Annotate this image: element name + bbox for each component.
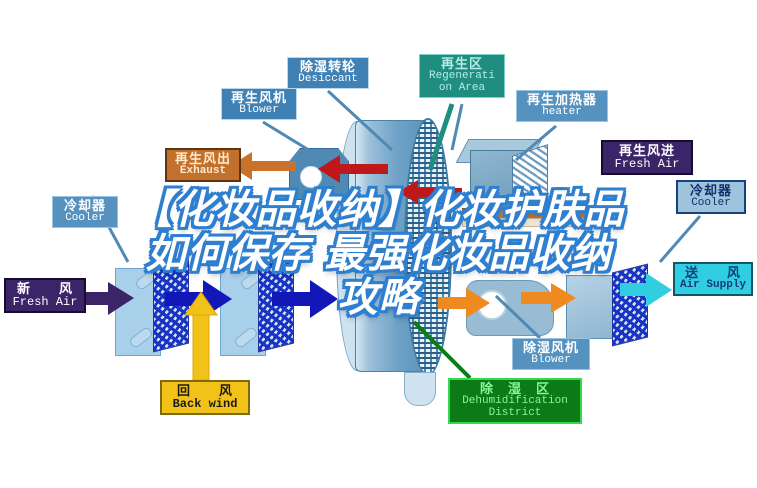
diagram-canvas: 除湿转轮 Desiccant 再生风机 Blower 再生区 Regenerat… [0, 0, 757, 488]
label-cn: 除湿风机 [517, 341, 585, 355]
label-en-line2: District [454, 408, 576, 420]
label-cn: 除 湿 区 [454, 382, 576, 396]
process-air-arrow-2-icon [272, 280, 338, 318]
label-en: Exhaust [171, 166, 235, 178]
label-cn: 再生区 [424, 57, 500, 71]
label-cn: 再生加热器 [521, 93, 603, 107]
label-regeneration-blower[interactable]: 再生风机 Blower [221, 88, 297, 120]
label-en: Desiccant [292, 74, 364, 86]
label-exhaust[interactable]: 再生风出 Exhaust [165, 148, 241, 182]
fresh-air-arrow-icon [86, 282, 134, 315]
dehum-arrow-1-icon [438, 288, 490, 318]
label-cooler-left[interactable]: 冷却器 Cooler [52, 196, 118, 228]
label-en: Fresh Air [10, 296, 80, 309]
supply-arrow-icon [620, 273, 672, 307]
label-back-wind[interactable]: 回 风 Back wind [160, 380, 250, 415]
label-en: Back wind [166, 398, 244, 411]
label-cn: 新 风 [10, 282, 80, 296]
label-dehumidification-district[interactable]: 除 湿 区 Dehumidification District [448, 378, 582, 424]
label-regeneration-fresh-air-inlet[interactable]: 再生风进 Fresh Air [601, 140, 693, 175]
label-cn: 再生风进 [607, 144, 687, 158]
label-cn: 再生风机 [226, 91, 292, 105]
label-cooler-right[interactable]: 冷却器 Cooler [676, 180, 746, 214]
regen-inlet-red-arrow-icon [318, 155, 462, 204]
leader-line-teal [430, 104, 452, 170]
label-en: Air Supply [679, 280, 747, 292]
label-en: Blower [226, 105, 292, 117]
label-en: Cooler [57, 213, 113, 225]
label-regeneration-heater[interactable]: 再生加热器 heater [516, 90, 608, 122]
label-air-supply[interactable]: 送 风 Air Supply [673, 262, 753, 296]
label-cn: 除湿转轮 [292, 60, 364, 74]
label-fresh-air-inlet[interactable]: 新 风 Fresh Air [4, 278, 86, 313]
airflow-arrows [0, 0, 757, 488]
leader-line-green [414, 322, 470, 378]
label-cn: 送 风 [679, 266, 747, 280]
label-cn: 回 风 [166, 384, 244, 398]
label-cn: 冷却器 [682, 184, 740, 198]
dehum-arrow-2-icon [521, 283, 576, 313]
label-cn: 再生风出 [171, 152, 235, 166]
label-desiccant-rotor[interactable]: 除湿转轮 Desiccant [287, 57, 369, 89]
label-en: heater [521, 107, 603, 119]
label-en: Cooler [682, 198, 740, 210]
label-en-line2: on Area [424, 83, 500, 95]
label-regeneration-area[interactable]: 再生区 Regenerati on Area [419, 54, 505, 98]
label-dehumidification-blower[interactable]: 除湿风机 Blower [512, 338, 590, 370]
label-en: Fresh Air [607, 158, 687, 171]
label-en: Blower [517, 355, 585, 367]
label-cn: 冷却器 [57, 199, 113, 213]
